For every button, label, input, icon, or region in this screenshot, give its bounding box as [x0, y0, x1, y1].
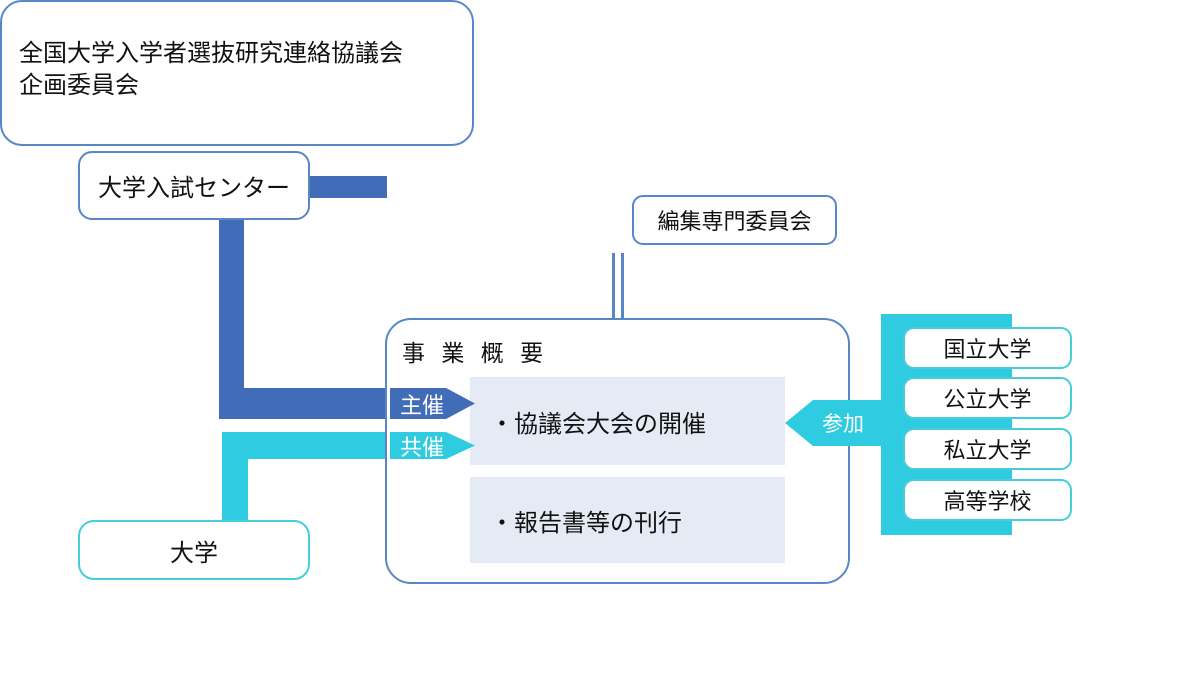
diagram-canvas: 大学入試センター 全国大学入学者選抜研究連絡協議会 企画委員会 編集専門委員会 …: [0, 0, 1177, 674]
node-university[interactable]: 大学: [78, 520, 310, 580]
node-member-label: 私立大学: [943, 433, 1031, 465]
node-editorial-subcommittee-label: 編集専門委員会: [657, 204, 811, 236]
node-member-high-school[interactable]: 高等学校: [903, 479, 1072, 521]
node-admission-center[interactable]: 大学入試センター: [78, 151, 310, 220]
connector-council-to-overview-left: [612, 253, 615, 319]
arrow-participate-label: 参加: [806, 408, 864, 438]
arrow-host-label: 主催: [390, 388, 444, 420]
node-member-label: 公立大学: [943, 382, 1031, 414]
node-member-public-university[interactable]: 公立大学: [903, 377, 1072, 419]
connector-center-to-council: [305, 176, 387, 198]
node-member-label: 高等学校: [943, 484, 1031, 516]
overview-item-label: ・報告書等の刊行: [470, 503, 682, 538]
node-editorial-subcommittee[interactable]: 編集専門委員会: [632, 195, 837, 245]
overview-item[interactable]: ・報告書等の刊行: [470, 477, 785, 563]
overview-item-label: ・協議会大会の開催: [470, 404, 706, 439]
node-member-label: 国立大学: [943, 332, 1031, 364]
node-admission-center-label: 大学入試センター: [98, 168, 290, 203]
node-council[interactable]: 全国大学入学者選抜研究連絡協議会 企画委員会: [0, 0, 474, 146]
arrow-cohost-label: 共催: [390, 430, 444, 462]
node-member-national-university[interactable]: 国立大学: [903, 327, 1072, 369]
node-university-label: 大学: [170, 533, 218, 568]
business-overview-heading: 事 業 概 要: [402, 334, 548, 368]
connector-council-to-overview-right: [621, 253, 624, 319]
overview-item[interactable]: ・協議会大会の開催: [470, 377, 785, 465]
node-council-label: 全国大学入学者選抜研究連絡協議会 企画委員会: [19, 38, 403, 101]
node-member-private-university[interactable]: 私立大学: [903, 428, 1072, 470]
